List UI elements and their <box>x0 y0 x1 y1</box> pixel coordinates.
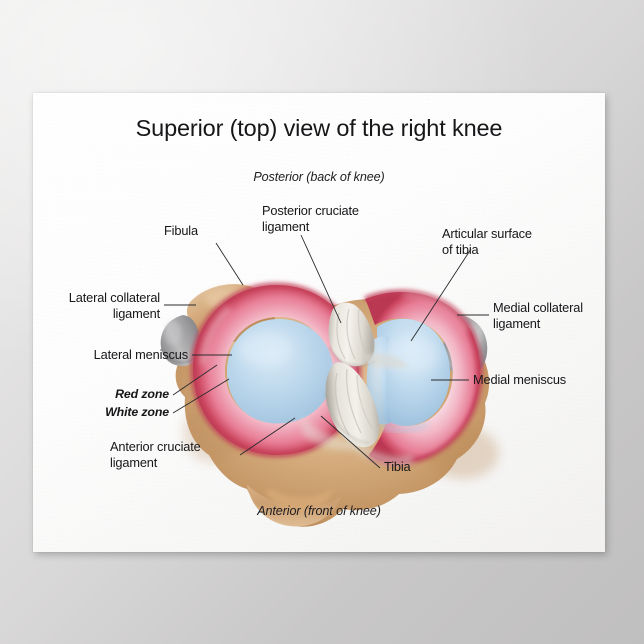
orientation-label-anterior: Anterior (front of knee) <box>33 504 605 518</box>
annotation-medial-meniscus: Medial meniscus <box>473 372 566 388</box>
annotation-lateral-meniscus: Lateral meniscus <box>33 347 188 363</box>
posterior-cruciate-ligament <box>329 303 376 367</box>
annotation-articular-surface-of-tibia: Articular surface of tibia <box>442 226 532 257</box>
anterior-cruciate-ligament <box>325 362 379 447</box>
leader-posterior-cruciate <box>301 235 341 323</box>
annotation-tibia: Tibia <box>384 459 411 475</box>
annotation-posterior-cruciate-ligament: Posterior cruciate ligament <box>262 203 359 234</box>
leader-articular-surface <box>411 249 471 341</box>
intercondylar-tissue <box>301 354 413 461</box>
leader-fibula <box>216 243 243 285</box>
medial-articular-surface <box>367 319 450 431</box>
annotation-white-zone: White zone <box>33 405 169 421</box>
annotation-red-zone: Red zone <box>33 387 169 403</box>
lateral-articular-surface <box>227 319 355 423</box>
leader-tibia <box>321 416 380 468</box>
medial-collateral-ligament <box>444 315 488 377</box>
annotation-anterior-cruciate-ligament: Anterior cruciate ligament <box>110 439 201 470</box>
page-title: Superior (top) view of the right knee <box>33 115 605 142</box>
leader-white-zone <box>173 379 229 413</box>
annotation-fibula: Fibula <box>164 223 198 239</box>
leader-red-zone <box>173 365 217 395</box>
lateral-meniscus <box>193 285 359 455</box>
medial-meniscus <box>365 292 480 463</box>
tibia-bone-mass <box>176 297 499 527</box>
screenshot-canvas: Superior (top) view of the right knee Po… <box>0 0 644 644</box>
leader-anterior-cruciate <box>240 418 295 455</box>
orientation-label-posterior: Posterior (back of knee) <box>33 170 605 184</box>
anatomy-poster: Superior (top) view of the right knee Po… <box>33 93 605 552</box>
annotation-lateral-collateral-ligament: Lateral collateral ligament <box>33 290 160 321</box>
annotation-medial-collateral-ligament: Medial collateral ligament <box>493 300 583 331</box>
fibula-head <box>187 284 275 342</box>
